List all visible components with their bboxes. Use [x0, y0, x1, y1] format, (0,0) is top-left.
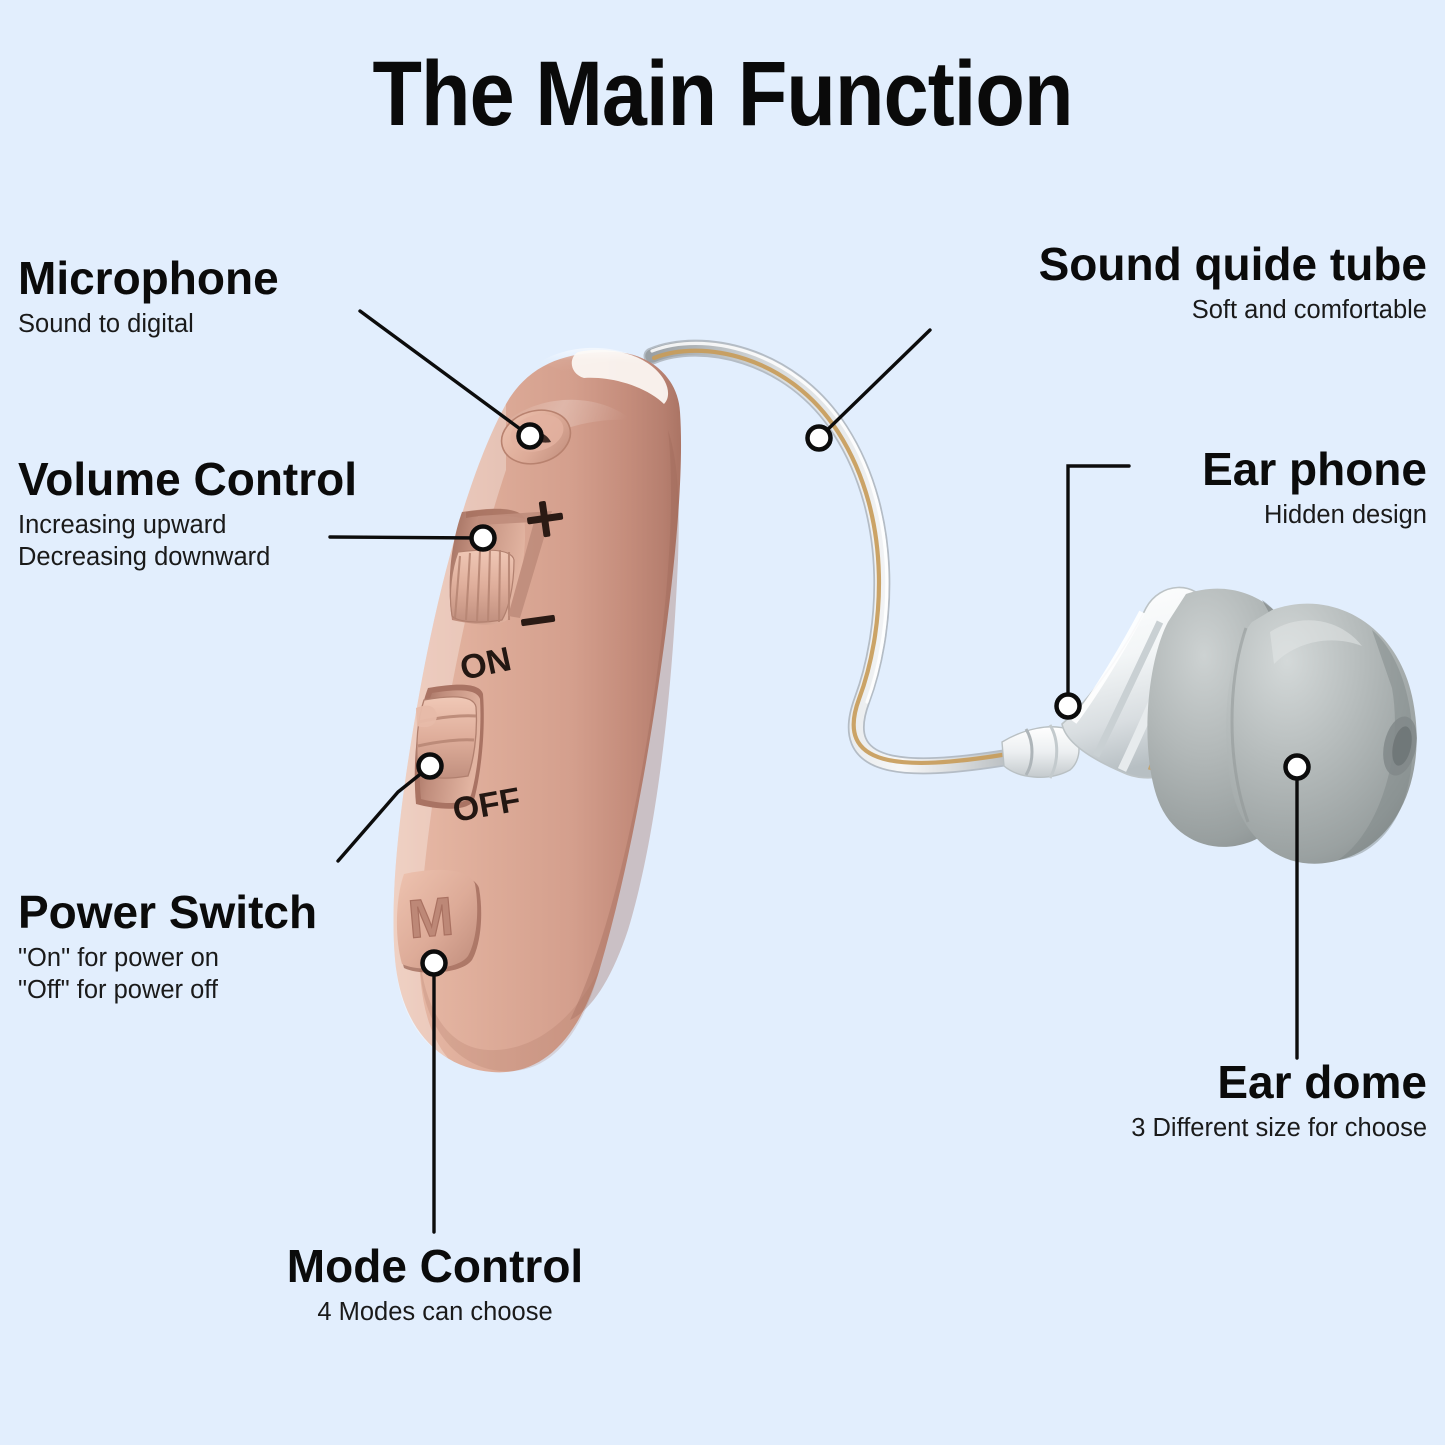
volume-wheel-ribs	[450, 550, 514, 622]
infographic-canvas: The Main Function	[0, 0, 1445, 1445]
mode-button-letter: M	[406, 886, 456, 950]
callout-ear-dome-subtitle: 3 Different size for choose	[1131, 1112, 1427, 1145]
callout-microphone: Microphone Sound to digital	[18, 254, 279, 340]
callout-ear-phone-subtitle: Hidden design	[1202, 499, 1427, 532]
callout-power-switch-subtitle-line2: "Off" for power off	[18, 974, 317, 1007]
callout-power-switch-subtitle-line1: "On" for power on	[18, 942, 317, 975]
callout-ear-phone: Ear phone Hidden design	[1202, 445, 1427, 531]
callout-power-switch: Power Switch "On" for power on "Off" for…	[18, 888, 317, 1007]
product-illustration: ON OFF M	[0, 0, 1445, 1445]
callout-sound-guide-tube-title: Sound quide tube	[1039, 240, 1427, 289]
callout-mode-control-title: Mode Control	[195, 1242, 675, 1291]
callout-microphone-subtitle: Sound to digital	[18, 308, 279, 341]
callout-microphone-title: Microphone	[18, 254, 279, 303]
callout-volume-control-title: Volume Control	[18, 455, 357, 504]
callout-power-switch-title: Power Switch	[18, 888, 317, 937]
callout-ear-phone-title: Ear phone	[1202, 445, 1427, 494]
callout-sound-guide-tube-subtitle: Soft and comfortable	[1039, 294, 1427, 327]
sound-guide-tube-highlight	[652, 343, 887, 702]
callout-mode-control-subtitle: 4 Modes can choose	[195, 1296, 675, 1329]
callout-volume-control-subtitle-line2: Decreasing downward	[18, 541, 357, 574]
callout-mode-control: Mode Control 4 Modes can choose	[195, 1242, 675, 1328]
callout-sound-guide-tube: Sound quide tube Soft and comfortable	[1039, 240, 1427, 326]
ear-dome	[1147, 589, 1421, 864]
callout-ear-dome: Ear dome 3 Different size for choose	[1131, 1058, 1427, 1144]
callout-volume-control-subtitle-line1: Increasing upward	[18, 509, 357, 542]
callout-volume-control: Volume Control Increasing upward Decreas…	[18, 455, 357, 574]
power-switch-toggle[interactable]	[416, 697, 476, 778]
callout-ear-dome-title: Ear dome	[1131, 1058, 1427, 1107]
mode-control-button[interactable]: M	[397, 870, 481, 973]
